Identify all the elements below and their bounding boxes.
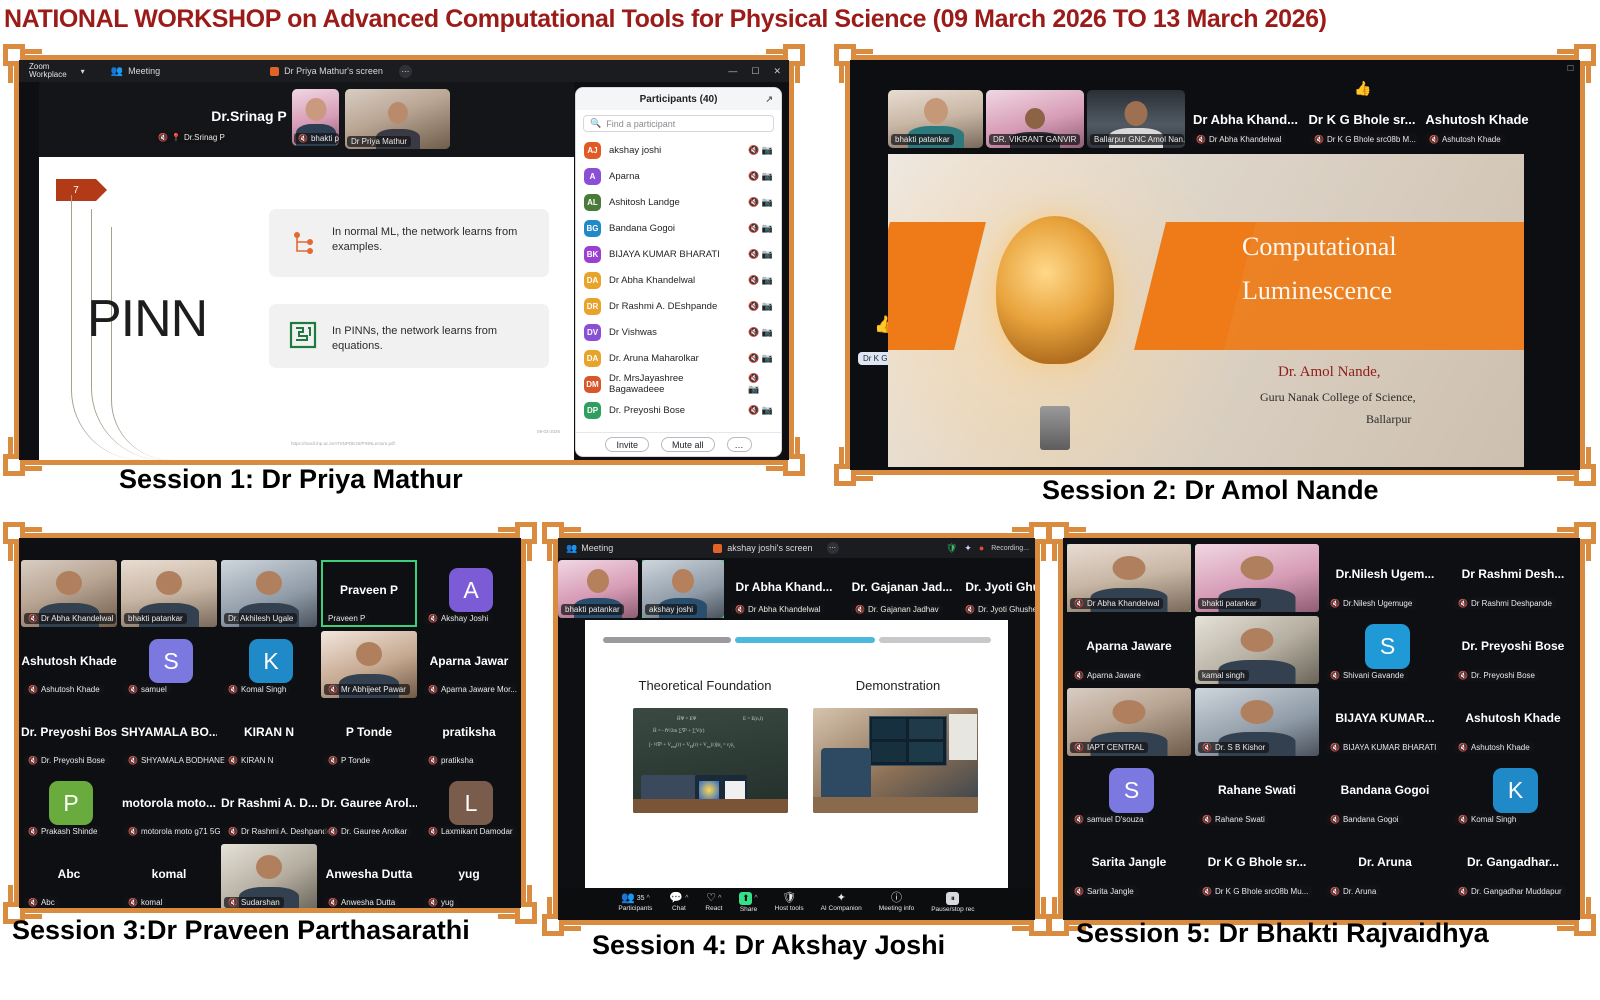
chevron-up-icon[interactable]: ^ <box>718 895 721 902</box>
sharing-tab[interactable]: Dr Priya Mathur's screen <box>270 66 383 76</box>
participant-tile[interactable]: Praveen PPraveen P <box>321 560 417 627</box>
mic-muted-icon: 🔇 <box>1458 816 1468 824</box>
convergence-panel <box>872 742 906 762</box>
tile-bhakti-patankar[interactable]: bhakti patankar <box>888 90 983 148</box>
participant-name: bhakti patankar <box>1202 599 1257 608</box>
tile-ashutosh-khade[interactable]: Ashutosh Khade 🔇 Ashutosh Khade <box>1421 90 1533 148</box>
session-4-screenshot: 👥 Meeting akshay joshi's screen ⋯ 🛡 ✦ ● … <box>558 538 1035 920</box>
participant-nametag: 🔇Anwesha Dutta <box>324 897 399 908</box>
participant-tile[interactable]: P Tonde🔇P Tonde <box>321 702 417 769</box>
mic-muted-icon: 🔇 <box>1196 136 1206 144</box>
participant-tile[interactable]: Ashutosh Khade🔇Ashutosh Khade <box>21 631 117 698</box>
desk-surface <box>813 797 978 813</box>
participant-name: yug <box>441 898 454 907</box>
participant-tile[interactable]: A🔇Akshay Joshi <box>421 560 517 627</box>
participant-nametag: 🔇Akshay Joshi <box>424 613 492 624</box>
shield-icon[interactable]: 🛡 <box>946 543 957 554</box>
participant-tile[interactable]: Dr Rashmi A. D...🔇Dr Rashmi A. Deshpande <box>221 773 317 840</box>
mic-muted-icon: 🔇 <box>1458 600 1468 608</box>
mic-muted-icon: 🔇 <box>1314 136 1324 144</box>
meeting-tab[interactable]: 👥 Meeting <box>111 66 160 77</box>
people-icon: 👥 <box>111 66 123 77</box>
tile-big-name: Dr. Preyoshi Bose <box>1451 639 1575 653</box>
participant-nametag: 🔇samuel D'souza <box>1070 814 1148 825</box>
participant-name: Komal Singh <box>1471 815 1516 824</box>
tile-big-name: Ashutosh Khade <box>21 654 117 668</box>
maze-icon <box>289 321 317 349</box>
participant-tile[interactable]: Aparna Jaware🔇Aparna Jaware <box>1067 616 1191 684</box>
participant-name: kamal singh <box>1202 671 1245 680</box>
tile-big-name: yug <box>421 867 517 881</box>
participant-name: Rahane Swati <box>1215 815 1265 824</box>
tile-big-name: Dr. Gajanan Jad... <box>848 580 956 594</box>
participant-tile[interactable]: Rahane Swati🔇Rahane Swati <box>1195 760 1319 828</box>
toolbar-participants[interactable]: 👥35^Participants <box>618 892 652 912</box>
participants-panel: Participants (40) ↗ 🔍 Find a participant… <box>576 88 781 456</box>
participant-tile[interactable]: Dr. Gajanan Jad...🔇Dr. Gajanan Jadhav <box>848 560 956 618</box>
participant-mic-video-icons[interactable]: 🔇 📷 <box>748 353 773 364</box>
record-dot-icon[interactable]: ● <box>979 543 984 553</box>
slide-card-2-text: In PINNs, the network learns from equati… <box>332 324 542 354</box>
mic-muted-icon: 🔇 <box>1458 888 1468 896</box>
participant-mic-video-icons[interactable]: 🔇 📷 <box>748 327 773 338</box>
nametag-bhakti: 🔇 bhakti patankar <box>294 133 339 144</box>
participant-tile[interactable]: 🔇Sudarshan <box>221 844 317 908</box>
chevron-up-icon[interactable]: ^ <box>685 895 688 902</box>
session-1-slide: 7 PINN In normal ML, the network learns … <box>39 157 574 460</box>
participant-mic-video-icons[interactable]: 🔇 📷 <box>748 171 773 182</box>
slide-left-image: ĤΨ = EΨ Ĥ = - ℏ²/2m ∑∇² + ∑V​​(r) [- ½∇²… <box>633 708 788 813</box>
participant-nametag: 🔇IAPT CENTRAL <box>1070 742 1148 753</box>
tile-big-name: BIJAYA KUMAR... <box>1323 711 1447 725</box>
participant-nametag: 🔇komal <box>124 897 166 908</box>
tile-kg-bhole[interactable]: 👍 Dr K G Bhole sr... 🔇 Dr K G Bhole src0… <box>1306 90 1418 148</box>
recording-label: Recording... <box>991 545 1029 552</box>
participant-tile[interactable]: 🔇Mr Abhijeet Pawar <box>321 631 417 698</box>
toolbar-host-tools[interactable]: 🛡Host tools <box>775 892 804 912</box>
participant-tile[interactable]: P🔇Prakash Shinde <box>21 773 117 840</box>
participant-tile[interactable]: bhakti patankar <box>558 560 638 618</box>
toolbar-meeting-info[interactable]: ⓘMeeting info <box>879 892 914 912</box>
participant-avatar: BK <box>584 246 601 263</box>
participant-name: Dr. Akhilesh Ugale <box>228 614 293 623</box>
participant-tile[interactable]: KIRAN N🔇KIRAN N <box>221 702 317 769</box>
participant-name: Dr Abha Khandelwal <box>1087 599 1160 608</box>
minimize-icon[interactable]: — <box>728 66 737 77</box>
maximize-icon[interactable]: ☐ <box>751 66 759 77</box>
participant-nametag: 🔇KIRAN N <box>224 755 277 766</box>
page-title: NATIONAL WORKSHOP on Advanced Computatio… <box>0 2 1600 36</box>
participant-row[interactable]: DADr Abha Khandelwal🔇 📷 <box>576 267 781 293</box>
mute-all-button[interactable]: Mute all <box>661 437 715 452</box>
mic-muted-icon: 🔇 <box>328 828 338 836</box>
participant-tile[interactable]: SHYAMALA BO...🔇SHYAMALA BODHANE <box>121 702 217 769</box>
participant-tile[interactable]: komal🔇komal <box>121 844 217 908</box>
chat-icon: 💬 <box>669 892 683 904</box>
mic-muted-icon: 🔇 <box>1429 136 1439 144</box>
participant-avatar: AL <box>584 194 601 211</box>
mic-muted-icon: 🔇 <box>428 828 438 836</box>
tile-big-name: Ashutosh Khade <box>1421 112 1533 127</box>
mic-muted-icon: 🔇 <box>28 757 38 765</box>
participants-title: Participants (40) <box>640 94 718 105</box>
participant-mic-video-icons[interactable]: 🔇 📷 <box>748 197 773 208</box>
participant-nametag: bhakti patankar <box>124 613 187 624</box>
tile-vikrant-ganvir[interactable]: DR. VIKRANT GANVIR <box>986 90 1084 148</box>
close-icon[interactable]: ✕ <box>773 66 781 77</box>
participant-tile[interactable]: Ashutosh Khade🔇Ashutosh Khade <box>1451 688 1575 756</box>
mic-muted-icon: 🔇 <box>128 828 138 836</box>
window-controls[interactable]: ☐ <box>1567 64 1574 73</box>
toolbar-chat[interactable]: 💬^Chat <box>669 892 688 912</box>
mic-muted-icon: 🔇 <box>1458 672 1468 680</box>
participant-tile[interactable]: 🔇Dr Abha Khandelwal <box>21 560 117 627</box>
mic-muted-icon: 🔇 <box>1074 672 1084 680</box>
participant-avatar: DA <box>584 272 601 289</box>
participant-tile[interactable]: L🔇Laxmikant Damodar <box>421 773 517 840</box>
participant-name: Ashutosh Khade <box>1471 743 1530 752</box>
mic-muted-icon: 🔇 <box>965 606 975 614</box>
participants-panel-header: Participants (40) ↗ <box>576 88 781 110</box>
participant-nametag: 🔇Dr Abha Khandelwal <box>24 613 116 624</box>
participant-nametag: 🔇Ashutosh Khade <box>24 684 104 695</box>
participant-name: Dr Rashmi A. Deshpande <box>241 827 331 836</box>
participant-nametag: 🔇Dr Rashmi Deshpande <box>1454 598 1556 609</box>
participant-nametag: 🔇Sarita Jangle <box>1070 886 1138 897</box>
tile-big-name: Aparna Jaware <box>1067 639 1191 653</box>
session-4-topbar: 👥 Meeting akshay joshi's screen ⋯ 🛡 ✦ ● … <box>558 538 1035 558</box>
session-1-filmstrip: Dr.Srinag P 🔇 📍 Dr.Srinag P 🔇 bhakti pat… <box>39 82 574 157</box>
participant-tile[interactable]: yug🔇yug <box>421 844 517 908</box>
participant-tile[interactable]: Bandana Gogoi🔇Bandana Gogoi <box>1323 760 1447 828</box>
participant-nametag: 🔇Sudarshan <box>224 897 284 908</box>
participant-name: akshay joshi <box>609 145 661 156</box>
session-1-topbar: ZoomWorkplace ▾ 👥 Meeting Dr Priya Mathu… <box>19 60 789 82</box>
charge-density-panel <box>909 742 943 762</box>
session-4-filmstrip: bhakti patankarakshay joshiDr Abha Khand… <box>558 558 1035 620</box>
participant-nametag: 🔇Shivani Gavande <box>1326 670 1408 681</box>
participant-tile[interactable]: Dr.Nilesh Ugem...🔇Dr.Nilesh Ugemuge <box>1323 544 1447 612</box>
participant-tile[interactable]: Abc🔇Abc <box>21 844 117 908</box>
participant-nametag: bhakti patankar <box>1198 598 1261 609</box>
participant-nametag: 🔇Dr Abha Khandelwal <box>1070 598 1163 609</box>
invite-button[interactable]: Invite <box>605 437 649 452</box>
participant-name: KIRAN N <box>241 756 273 765</box>
participant-mic-video-icons[interactable]: 🔇 📷 <box>748 145 773 156</box>
participant-name: Dr Rashmi A. DEshpande <box>609 301 717 312</box>
participant-nametag: 🔇Dr K G Bhole src08b Mu... <box>1198 886 1312 897</box>
participant-row[interactable]: ALAshitosh Landge🔇 📷 <box>576 189 781 215</box>
tile-bhakti-patankar[interactable]: 🔇 bhakti patankar <box>292 89 339 146</box>
meeting-label: Meeting <box>128 66 160 76</box>
tile-big-name: Anwesha Dutta <box>321 867 417 881</box>
toolbar-ai-companion[interactable]: ✦AI Companion <box>821 892 862 912</box>
zoom-workplace-label: ZoomWorkplace <box>29 63 67 80</box>
mic-muted-icon: 🔇 <box>228 899 238 907</box>
mic-muted-icon: 🔇 <box>128 686 138 694</box>
slide-affiliation-2: Ballarpur <box>1366 412 1411 427</box>
participant-tile[interactable]: Dr. Aruna🔇Dr. Aruna <box>1323 832 1447 900</box>
orbital-plot <box>699 781 719 799</box>
participant-name: Dr. Gauree Arolkar <box>341 827 407 836</box>
participant-tile[interactable]: Aparna Jawar🔇Aparna Jaware Mor... <box>421 631 517 698</box>
session-3-caption: Session 3:Dr Praveen Parthasarathi <box>12 915 470 946</box>
slide-presenter: Dr. Amol Nande, <box>1278 364 1381 381</box>
participant-nametag: 🔇Bandana Gogoi <box>1326 814 1403 825</box>
participant-nametag: 🔇SHYAMALA BODHANE <box>124 755 216 766</box>
nametag-ashutosh: 🔇 Ashutosh Khade <box>1425 134 1505 145</box>
more-options-icon[interactable]: ⋯ <box>399 65 412 78</box>
participant-tile[interactable]: 🔇Dr. S B Kishor <box>1195 688 1319 756</box>
slide-title-line2: Luminescence <box>1242 276 1392 307</box>
mic-muted-icon: 🔇 <box>28 615 38 623</box>
participant-tile[interactable]: Dr. Jyoti Ghushe🔇Dr. Jyoti Ghushe <box>958 560 1035 618</box>
mic-muted-icon: 🔇 <box>428 899 438 907</box>
participant-avatar: AJ <box>584 142 601 159</box>
participant-tile[interactable]: Dr. Akhilesh Ugale <box>221 560 317 627</box>
participant-mic-video-icons[interactable]: 🔇 📷 <box>748 275 773 286</box>
participant-nametag: Dr. Akhilesh Ugale <box>224 613 297 624</box>
participant-tile[interactable]: motorola moto...🔇motorola moto g71 5G <box>121 773 217 840</box>
participant-avatar: DA <box>584 350 601 367</box>
pause-stop-record-icon: ⏸ <box>946 892 959 905</box>
tile-big-name: Dr Rashmi Desh... <box>1451 567 1575 581</box>
meeting-info-icon: ⓘ <box>891 892 902 904</box>
participant-nametag: Praveen P <box>324 613 369 624</box>
search-input[interactable]: 🔍 Find a participant <box>583 115 774 132</box>
participant-nametag: 🔇Dr. Gauree Arolkar <box>324 826 411 837</box>
participants-list[interactable]: AJakshay joshi🔇 📷AAparna🔇 📷ALAshitosh La… <box>576 137 781 427</box>
tile-big-name: Ashutosh Khade <box>1451 711 1575 725</box>
participant-row[interactable]: DRDr Rashmi A. DEshpande🔇 📷 <box>576 293 781 319</box>
participant-avatar: BG <box>584 220 601 237</box>
participant-avatar: DV <box>584 324 601 341</box>
participant-tile[interactable]: Dr. Preyoshi Bose🔇Dr. Preyoshi Bose <box>1451 616 1575 684</box>
participant-nametag: 🔇Dr. S B Kishor <box>1198 742 1269 753</box>
session-4-toolbar: 👥35^Participants💬^Chat♡^React⬆^Share🛡Hos… <box>558 888 1035 920</box>
participant-nametag: 🔇Komal Singh <box>224 684 290 695</box>
participant-mic-video-icons[interactable]: 🔇 📷 <box>748 223 773 234</box>
network-nodes-icon <box>289 229 317 257</box>
session-2-caption: Session 2: Dr Amol Nande <box>1042 475 1379 506</box>
mic-muted-icon: 🔇 <box>1458 744 1468 752</box>
mic-muted-icon: 🔇 <box>855 606 865 614</box>
popout-icon[interactable]: ↗ <box>765 94 773 105</box>
participant-row[interactable]: BKBIJAYA KUMAR BHARATI🔇 📷 <box>576 241 781 267</box>
mic-muted-icon: 🔇 <box>1330 600 1340 608</box>
mic-muted-icon: 🔇 <box>428 686 438 694</box>
participant-name: Shivani Gavande <box>1343 671 1404 680</box>
session-2-slide: Computational Luminescence Dr. Amol Nand… <box>888 154 1524 467</box>
participant-nametag: 🔇Prakash Shinde <box>24 826 101 837</box>
participants-count-badge: 35 <box>637 895 645 902</box>
mic-muted-icon: 🔇 <box>228 686 238 694</box>
participant-name: Dr K G Bhole src08b Mu... <box>1215 887 1308 896</box>
participant-nametag: 🔇Laxmikant Damodar <box>424 826 516 837</box>
sharing-label: Dr Priya Mathur's screen <box>284 66 383 76</box>
participant-name: BIJAYA KUMAR BHARATI <box>609 249 720 260</box>
participant-name: pratiksha <box>441 756 473 765</box>
participant-nametag: 🔇Komal Singh <box>1454 814 1520 825</box>
mic-muted-icon: 🔇 <box>128 899 138 907</box>
participant-avatar: S <box>149 639 193 683</box>
more-button[interactable]: … <box>727 437 752 452</box>
participant-avatar: A <box>584 168 601 185</box>
lightbulb-gears-image <box>996 216 1114 364</box>
chevron-up-icon[interactable]: ^ <box>647 895 650 902</box>
mic-muted-icon: 🔇 <box>128 757 138 765</box>
participant-row[interactable]: DPDr. Preyoshi Bose🔇 📷 <box>576 397 781 423</box>
participant-name: akshay joshi <box>649 605 693 614</box>
workshop-collage: NATIONAL WORKSHOP on Advanced Computatio… <box>0 0 1600 1000</box>
session-1-caption: Session 1: Dr Priya Mathur <box>119 464 463 495</box>
mic-muted-icon: 🔇 <box>228 757 238 765</box>
participant-tile[interactable]: bhakti patankar <box>121 560 217 627</box>
participant-nametag: 🔇Abc <box>24 897 59 908</box>
participant-mic-video-icons[interactable]: 🔇 📷 <box>748 373 773 395</box>
tile-big-name: motorola moto... <box>121 796 217 810</box>
participant-tile[interactable]: Dr. Preyoshi Bose🔇Dr. Preyoshi Bose <box>21 702 117 769</box>
participant-row[interactable]: AJakshay joshi🔇 📷 <box>576 137 781 163</box>
participant-row[interactable]: DVDr Vishwas🔇 📷 <box>576 319 781 345</box>
participant-tile[interactable]: Dr. Gangadhar...🔇Dr. Gangadhar Muddapur <box>1451 832 1575 900</box>
participant-tile[interactable]: 🔇Dr Abha Khandelwal <box>1067 544 1191 612</box>
participant-nametag: 🔇motorola moto g71 5G <box>124 826 216 837</box>
participant-name: Bandana Gogoi <box>609 223 675 234</box>
participant-name: Akshay Joshi <box>441 614 488 623</box>
participant-name: Laxmikant Damodar <box>441 827 513 836</box>
participant-tile[interactable]: Dr K G Bhole sr...🔇Dr K G Bhole src08b M… <box>1195 832 1319 900</box>
mic-muted-icon: 🔇 <box>1202 816 1212 824</box>
tile-big-name: Dr K G Bhole sr... <box>1306 112 1418 127</box>
tile-big-name: Dr. Aruna <box>1323 855 1447 869</box>
mic-muted-icon: 🔇 <box>1074 600 1084 608</box>
participant-name: SHYAMALA BODHANE <box>141 756 225 765</box>
participant-name: Komal Singh <box>241 685 286 694</box>
participant-tile[interactable]: Anwesha Dutta🔇Anwesha Dutta <box>321 844 417 908</box>
session-5-caption: Session 5: Dr Bhakti Rajvaidhya <box>1076 918 1489 949</box>
nametag-amol: Ballarpur GNC Amol Nan... <box>1090 134 1184 145</box>
session-2-screenshot: ☐ bhakti patankar DR. VIKRANT GANVIR <box>850 60 1580 470</box>
participant-tile[interactable]: kamal singh <box>1195 616 1319 684</box>
participant-nametag: 🔇Mr Abhijeet Pawar <box>324 684 410 695</box>
participant-name: komal <box>141 898 162 907</box>
participant-row[interactable]: DMDr. MrsJayashree Bagawadeee🔇 📷 <box>576 371 781 397</box>
mic-muted-icon: 🔇 <box>1330 744 1340 752</box>
participant-tile[interactable]: Dr. Gauree Arol...🔇Dr. Gauree Arolkar <box>321 773 417 840</box>
participant-tile[interactable]: S🔇samuel D'souza <box>1067 760 1191 828</box>
slide-title-line1: Computational <box>1242 232 1397 263</box>
participant-nametag: 🔇Dr Abha Khandelwal <box>731 604 824 615</box>
slide-card-1-text: In normal ML, the network learns from ex… <box>332 225 532 255</box>
participant-tile[interactable]: S🔇Shivani Gavande <box>1323 616 1447 684</box>
tile-big-name: Dr. Gauree Arol... <box>321 796 417 810</box>
participant-name: Dr. Aruna <box>1343 887 1376 896</box>
participant-avatar: A <box>449 568 493 612</box>
participant-tile[interactable]: 🔇IAPT CENTRAL <box>1067 688 1191 756</box>
chevron-down-icon[interactable]: ▾ <box>81 67 85 76</box>
participant-tile[interactable]: K🔇Komal Singh <box>1451 760 1575 828</box>
participant-avatar: L <box>449 781 493 825</box>
toolbar-react[interactable]: ♡^React <box>705 892 722 912</box>
participant-nametag: 🔇Dr. Jyoti Ghushe <box>961 604 1035 615</box>
participant-name: Abc <box>41 898 55 907</box>
desk-surface <box>633 799 788 813</box>
toolbar-pause-stop-rec[interactable]: ⏸Pause/stop rec <box>931 892 974 913</box>
participant-name: Dr. Jyoti Ghushe <box>978 605 1035 614</box>
slide-right-image <box>813 708 978 813</box>
participant-mic-video-icons[interactable]: 🔇 📷 <box>748 301 773 312</box>
mic-muted-icon: 🔇 <box>1202 744 1212 752</box>
mic-muted-icon: 🔇 <box>1202 888 1212 896</box>
participant-nametag: 🔇Rahane Swati <box>1198 814 1269 825</box>
tile-amol-nande[interactable]: Ballarpur GNC Amol Nan... <box>1087 90 1185 148</box>
participant-tile[interactable]: Sarita Jangle🔇Sarita Jangle <box>1067 832 1191 900</box>
participant-avatar: DR <box>584 298 601 315</box>
participant-name: Ashitosh Landge <box>609 197 680 208</box>
nametag-priya: Dr Priya Mathur <box>347 136 411 147</box>
mic-muted-icon: 🔇 <box>1330 888 1340 896</box>
person-silhouette <box>821 748 871 798</box>
participant-tile[interactable]: pratiksha🔇pratiksha <box>421 702 517 769</box>
participant-name: Bandana Gogoi <box>1343 815 1399 824</box>
tile-abha-khandelwal[interactable]: Dr Abha Khand... 🔇 Dr Abha Khandelwal <box>1188 90 1303 148</box>
participant-tile[interactable]: bhakti patankar <box>1195 544 1319 612</box>
participant-tile[interactable]: S🔇samuel <box>121 631 217 698</box>
participant-tile[interactable]: BIJAYA KUMAR...🔇BIJAYA KUMAR BHARATI <box>1323 688 1447 756</box>
participant-name: Dr Abha Khandelwal <box>41 614 114 623</box>
participant-mic-video-icons[interactable]: 🔇 📷 <box>748 405 773 416</box>
participant-name: Dr Vishwas <box>609 327 657 338</box>
participant-row[interactable]: AAparna🔇 📷 <box>576 163 781 189</box>
session-1-screenshot: ZoomWorkplace ▾ 👥 Meeting Dr Priya Mathu… <box>19 60 789 460</box>
participant-name: Dr. Gangadhar Muddapur <box>1471 887 1562 896</box>
sharing-tab[interactable]: akshay joshi's screen <box>713 543 812 553</box>
participant-tile[interactable]: Dr Abha Khand...🔇Dr Abha Khandelwal <box>728 560 840 618</box>
tile-dr-priya-mathur[interactable]: Dr Priya Mathur <box>345 89 450 149</box>
toolbar-share[interactable]: ⬆^Share <box>739 892 757 913</box>
mic-muted-icon: 🔇 <box>228 828 238 836</box>
mic-muted-icon: 🔇 <box>158 134 168 142</box>
participant-tile[interactable]: akshay joshi <box>642 560 724 618</box>
toolbar-label: React <box>705 905 722 912</box>
mic-muted-icon: 🔇 <box>328 899 338 907</box>
participant-row[interactable]: DADr. Aruna Maharolkar🔇 📷 <box>576 345 781 371</box>
tile-big-name: Dr Rashmi A. D... <box>221 796 317 810</box>
more-options-icon[interactable]: ⋯ <box>827 542 839 554</box>
participant-name: Mr Abhijeet Pawar <box>341 685 406 694</box>
meeting-tab[interactable]: 👥 Meeting <box>566 543 613 554</box>
participant-tile[interactable]: Dr Rashmi Desh...🔇Dr Rashmi Deshpande <box>1451 544 1575 612</box>
participants-icon: 👥 <box>621 892 635 904</box>
slide-word-pinn: PINN <box>87 289 207 349</box>
participant-nametag: 🔇Dr.Nilesh Ugemuge <box>1326 598 1416 609</box>
host-tools-shield-icon: 🛡 <box>782 892 796 904</box>
participant-avatar: K <box>249 639 293 683</box>
participant-tile[interactable]: K🔇Komal Singh <box>221 631 317 698</box>
participant-mic-video-icons[interactable]: 🔇 📷 <box>748 249 773 260</box>
tile-big-name: Aparna Jawar <box>421 654 517 668</box>
participant-row[interactable]: BGBandana Gogoi🔇 📷 <box>576 215 781 241</box>
people-icon: 👥 <box>566 543 577 554</box>
mic-muted-icon: 🔇 <box>28 828 38 836</box>
nametag-abha: 🔇 Dr Abha Khandelwal <box>1192 134 1285 145</box>
share-badge-icon <box>270 67 279 76</box>
ai-sparkle-icon[interactable]: ✦ <box>964 543 972 554</box>
participant-name: Sudarshan <box>241 898 280 907</box>
tile-big-name: Abc <box>21 867 117 881</box>
chevron-up-icon[interactable]: ^ <box>754 895 757 902</box>
